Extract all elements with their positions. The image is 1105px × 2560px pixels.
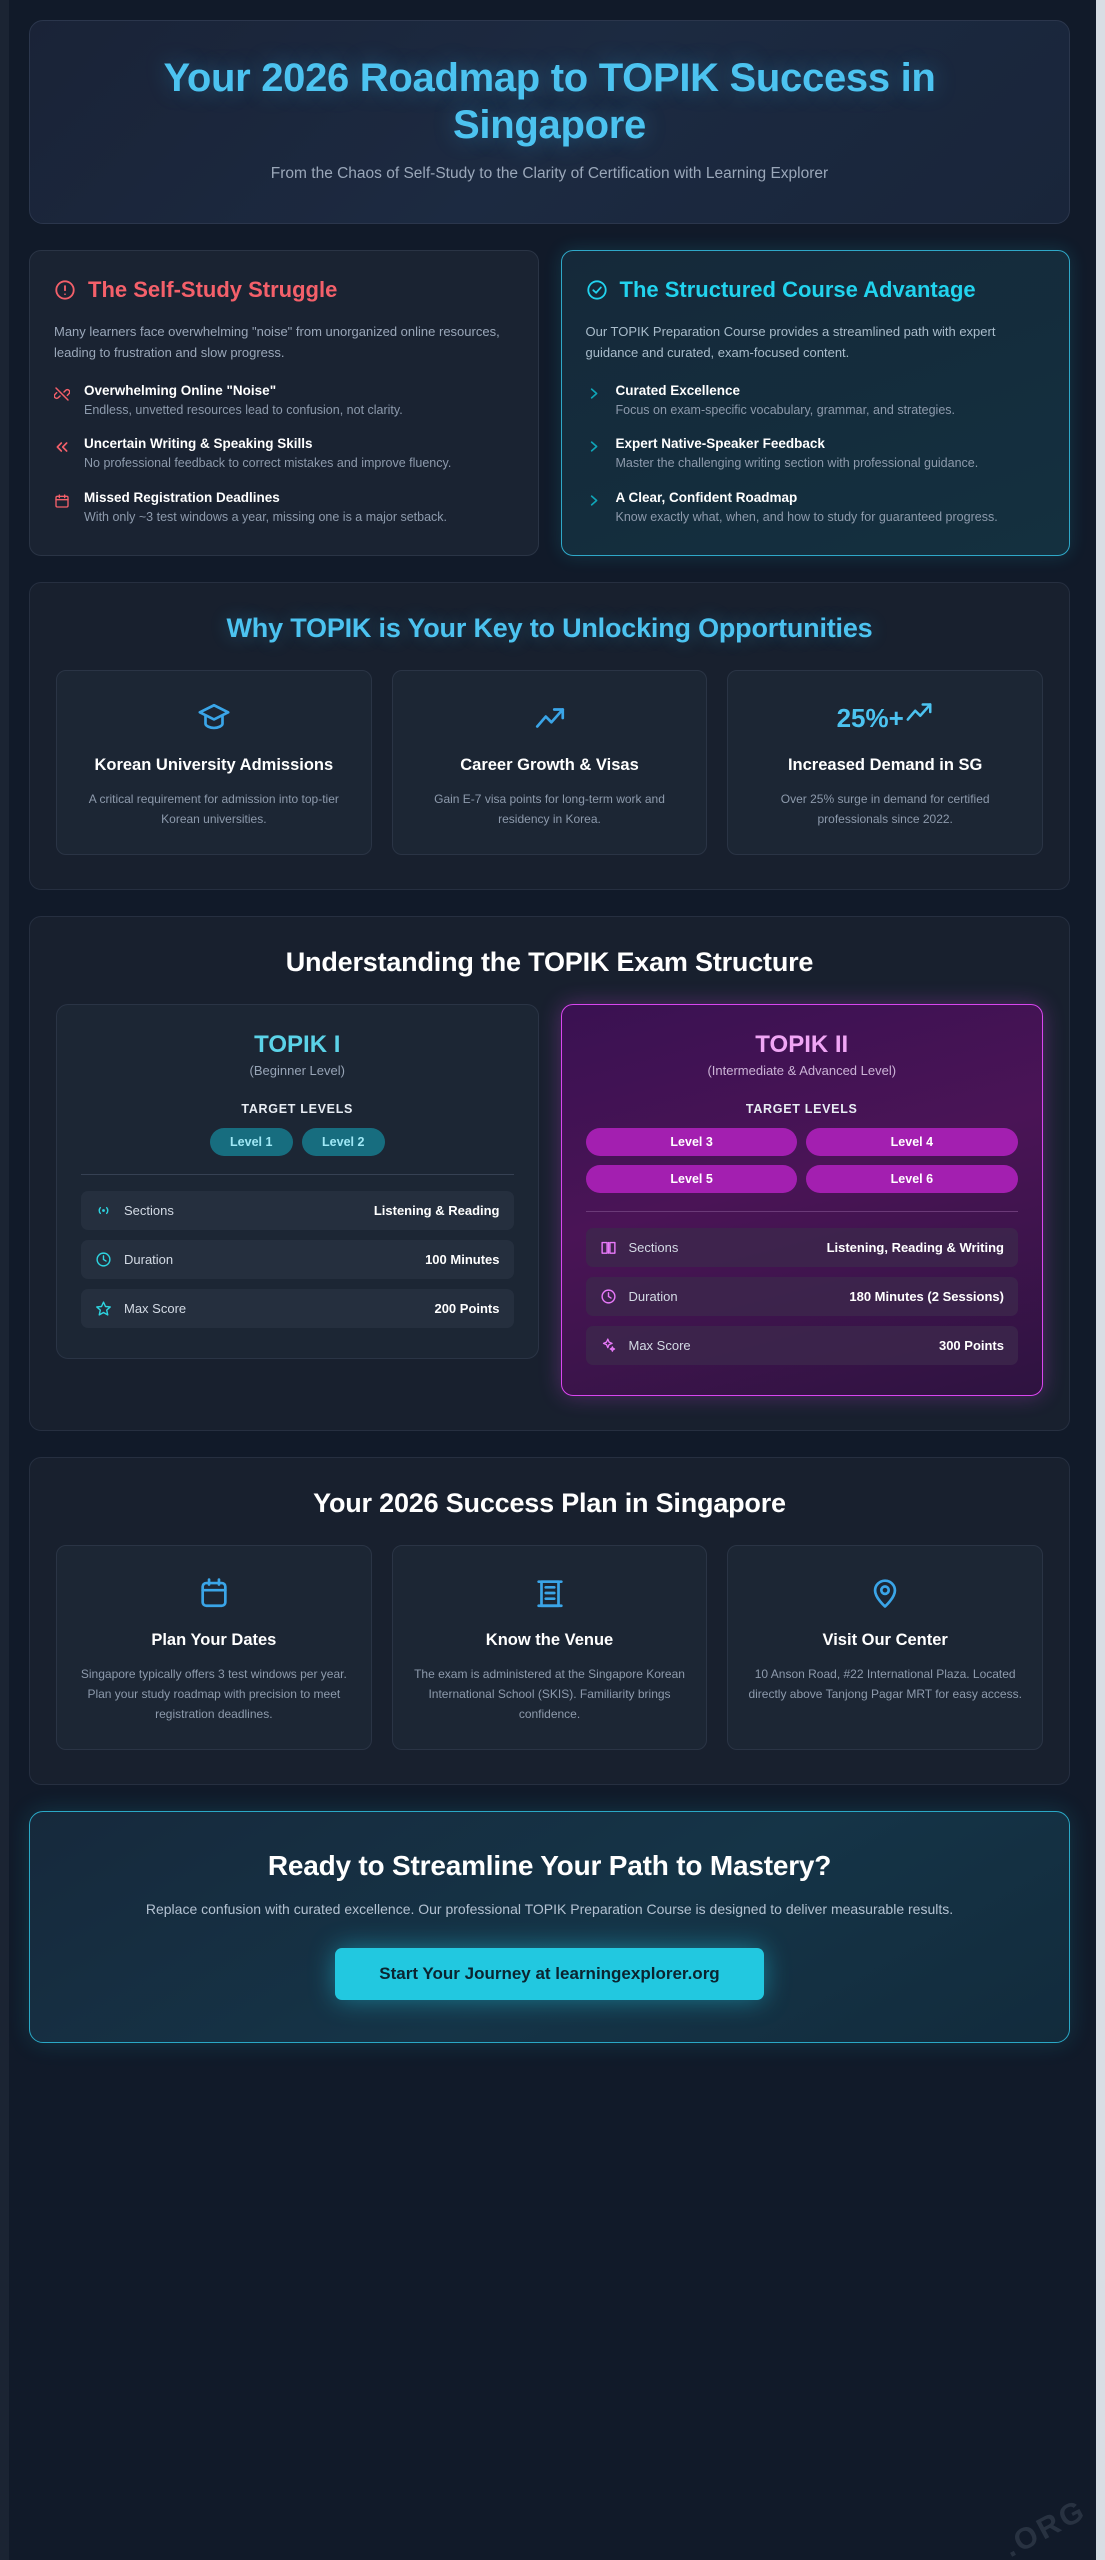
sparkles-icon	[600, 1337, 618, 1354]
chevron-right-icon	[586, 493, 604, 527]
exam-name: TOPIK II	[586, 1031, 1019, 1059]
structured-course-panel: The Structured Course Advantage Our TOPI…	[561, 250, 1071, 556]
section-title: Your 2026 Success Plan in Singapore	[56, 1488, 1043, 1519]
plan-card-title: Know the Venue	[413, 1630, 687, 1651]
list-item: A Clear, Confident Roadmap Know exactly …	[586, 490, 1046, 527]
list-item-desc: No professional feedback to correct mist…	[84, 454, 451, 473]
clock-icon	[600, 1288, 618, 1305]
benefit-card-desc: A critical requirement for admission int…	[77, 790, 351, 830]
alert-circle-icon	[54, 279, 76, 306]
section-title: Understanding the TOPIK Exam Structure	[56, 947, 1043, 978]
spec-row: Duration 180 Minutes (2 Sessions)	[586, 1277, 1019, 1316]
start-journey-button[interactable]: Start Your Journey at learningexplorer.o…	[335, 1948, 763, 2000]
list-item: Overwhelming Online "Noise" Endless, unv…	[54, 383, 514, 420]
map-pin-icon	[748, 1572, 1022, 1614]
panel-title: The Self-Study Struggle	[88, 277, 337, 304]
stat-value: 25%+	[837, 697, 904, 739]
list-item-title: Curated Excellence	[616, 383, 956, 398]
section-title: Why TOPIK is Your Key to Unlocking Oppor…	[56, 613, 1043, 644]
cta-subtitle: Replace confusion with curated excellenc…	[70, 1898, 1029, 1920]
book-open-icon	[600, 1239, 618, 1256]
check-circle-icon	[586, 279, 608, 306]
spec-label: Max Score	[124, 1301, 434, 1316]
spec-row: Sections Listening & Reading	[81, 1191, 514, 1230]
cta-banner: Ready to Streamline Your Path to Mastery…	[29, 1811, 1070, 2043]
spec-value: 200 Points	[434, 1301, 499, 1316]
graduation-cap-icon	[77, 697, 351, 739]
trending-up-icon	[904, 697, 934, 739]
topik-2-card: TOPIK II (Intermediate & Advanced Level)…	[561, 1004, 1044, 1396]
exam-structure-section: Understanding the TOPIK Exam Structure T…	[29, 916, 1070, 1431]
chevron-right-icon	[586, 386, 604, 420]
benefit-card-desc: Gain E-7 visa points for long-term work …	[413, 790, 687, 830]
self-study-struggle-panel: The Self-Study Struggle Many learners fa…	[29, 250, 539, 556]
list-item-title: Missed Registration Deadlines	[84, 490, 447, 505]
building-icon	[413, 1572, 687, 1614]
exam-subtitle: (Beginner Level)	[81, 1063, 514, 1078]
success-plan-section: Your 2026 Success Plan in Singapore Plan…	[29, 1457, 1070, 1785]
exam-card-row: TOPIK I (Beginner Level) TARGET LEVELS L…	[56, 1004, 1043, 1396]
broadcast-icon	[95, 1202, 113, 1219]
list-item: Missed Registration Deadlines With only …	[54, 490, 514, 527]
benefit-card-row: Korean University Admissions A critical …	[56, 670, 1043, 855]
trending-up-icon	[413, 697, 687, 739]
plan-card-title: Visit Our Center	[748, 1630, 1022, 1651]
spec-row: Sections Listening, Reading & Writing	[586, 1228, 1019, 1267]
panel-lede: Our TOPIK Preparation Course provides a …	[586, 322, 1046, 362]
comparison-row: The Self-Study Struggle Many learners fa…	[29, 250, 1070, 556]
hero-banner: Your 2026 Roadmap to TOPIK Success in Si…	[29, 20, 1070, 224]
target-level-pills: Level 3 Level 4 Level 5 Level 6	[586, 1128, 1019, 1193]
plan-card: Know the Venue The exam is administered …	[392, 1545, 708, 1750]
why-topik-section: Why TOPIK is Your Key to Unlocking Oppor…	[29, 582, 1070, 890]
exam-subtitle: (Intermediate & Advanced Level)	[586, 1063, 1019, 1078]
spec-label: Max Score	[629, 1338, 939, 1353]
target-levels-label: TARGET LEVELS	[586, 1102, 1019, 1116]
plan-card: Plan Your Dates Singapore typically offe…	[56, 1545, 372, 1750]
list-item-desc: Master the challenging writing section w…	[616, 454, 979, 473]
benefit-card: Korean University Admissions A critical …	[56, 670, 372, 855]
chevron-right-icon	[586, 439, 604, 473]
list-item-desc: Know exactly what, when, and how to stud…	[616, 508, 998, 527]
list-item-title: Expert Native-Speaker Feedback	[616, 436, 979, 451]
benefit-card-desc: Over 25% surge in demand for certified p…	[748, 790, 1022, 830]
watermark: .ORG	[999, 2493, 1093, 2560]
plan-card-desc: The exam is administered at the Singapor…	[413, 1665, 687, 1724]
spec-value: 100 Minutes	[425, 1252, 499, 1267]
spec-label: Duration	[124, 1252, 425, 1267]
benefit-card-title: Increased Demand in SG	[748, 755, 1022, 776]
topik-1-card: TOPIK I (Beginner Level) TARGET LEVELS L…	[56, 1004, 539, 1359]
divider	[81, 1174, 514, 1175]
spec-row: Max Score 300 Points	[586, 1326, 1019, 1365]
infographic-page: Your 2026 Roadmap to TOPIK Success in Si…	[0, 0, 1105, 2560]
benefit-card-title: Career Growth & Visas	[413, 755, 687, 776]
list-item-title: Overwhelming Online "Noise"	[84, 383, 403, 398]
benefit-card: Career Growth & Visas Gain E-7 visa poin…	[392, 670, 708, 855]
calendar-icon	[77, 1572, 351, 1614]
level-pill: Level 1	[210, 1128, 293, 1156]
spec-label: Duration	[629, 1289, 850, 1304]
benefit-card-title: Korean University Admissions	[77, 755, 351, 776]
target-level-pills: Level 1 Level 2	[81, 1128, 514, 1156]
list-item-title: Uncertain Writing & Speaking Skills	[84, 436, 451, 451]
list-item-title: A Clear, Confident Roadmap	[616, 490, 998, 505]
star-icon	[95, 1300, 113, 1317]
level-pill: Level 4	[806, 1128, 1017, 1156]
list-item: Expert Native-Speaker Feedback Master th…	[586, 436, 1046, 473]
benefit-card: 25%+ Increased Demand in SG Over 25% sur…	[727, 670, 1043, 855]
list-item: Curated Excellence Focus on exam-specifi…	[586, 383, 1046, 420]
spec-row: Duration 100 Minutes	[81, 1240, 514, 1279]
page-subtitle: From the Chaos of Self-Study to the Clar…	[70, 165, 1029, 183]
plan-card: Visit Our Center 10 Anson Road, #22 Inte…	[727, 1545, 1043, 1750]
list-item-desc: Endless, unvetted resources lead to conf…	[84, 401, 403, 420]
plan-card-desc: 10 Anson Road, #22 International Plaza. …	[748, 1665, 1022, 1705]
spec-label: Sections	[629, 1240, 827, 1255]
level-pill: Level 3	[586, 1128, 797, 1156]
list-item-desc: Focus on exam-specific vocabulary, gramm…	[616, 401, 956, 420]
spec-value: Listening & Reading	[374, 1203, 500, 1218]
page-title: Your 2026 Roadmap to TOPIK Success in Si…	[70, 55, 1029, 149]
double-chevron-left-icon	[54, 439, 72, 473]
spec-value: 180 Minutes (2 Sessions)	[849, 1289, 1004, 1304]
calendar-x-icon	[54, 493, 72, 527]
stat-with-trending-up-icon: 25%+	[748, 697, 1022, 739]
clock-icon	[95, 1251, 113, 1268]
level-pill: Level 2	[302, 1128, 385, 1156]
plan-card-title: Plan Your Dates	[77, 1630, 351, 1651]
panel-header: The Self-Study Struggle	[54, 277, 514, 306]
spec-value: Listening, Reading & Writing	[827, 1240, 1004, 1255]
exam-name: TOPIK I	[81, 1031, 514, 1059]
level-pill: Level 5	[586, 1165, 797, 1193]
cta-title: Ready to Streamline Your Path to Mastery…	[70, 1850, 1029, 1882]
list-item-desc: With only ~3 test windows a year, missin…	[84, 508, 447, 527]
panel-title: The Structured Course Advantage	[620, 277, 976, 304]
panel-lede: Many learners face overwhelming "noise" …	[54, 322, 514, 362]
target-levels-label: TARGET LEVELS	[81, 1102, 514, 1116]
spec-label: Sections	[124, 1203, 374, 1218]
spec-value: 300 Points	[939, 1338, 1004, 1353]
plan-card-row: Plan Your Dates Singapore typically offe…	[56, 1545, 1043, 1750]
broken-link-icon	[54, 386, 72, 420]
plan-card-desc: Singapore typically offers 3 test window…	[77, 1665, 351, 1724]
level-pill: Level 6	[806, 1165, 1017, 1193]
divider	[586, 1211, 1019, 1212]
spec-row: Max Score 200 Points	[81, 1289, 514, 1328]
list-item: Uncertain Writing & Speaking Skills No p…	[54, 436, 514, 473]
panel-header: The Structured Course Advantage	[586, 277, 1046, 306]
